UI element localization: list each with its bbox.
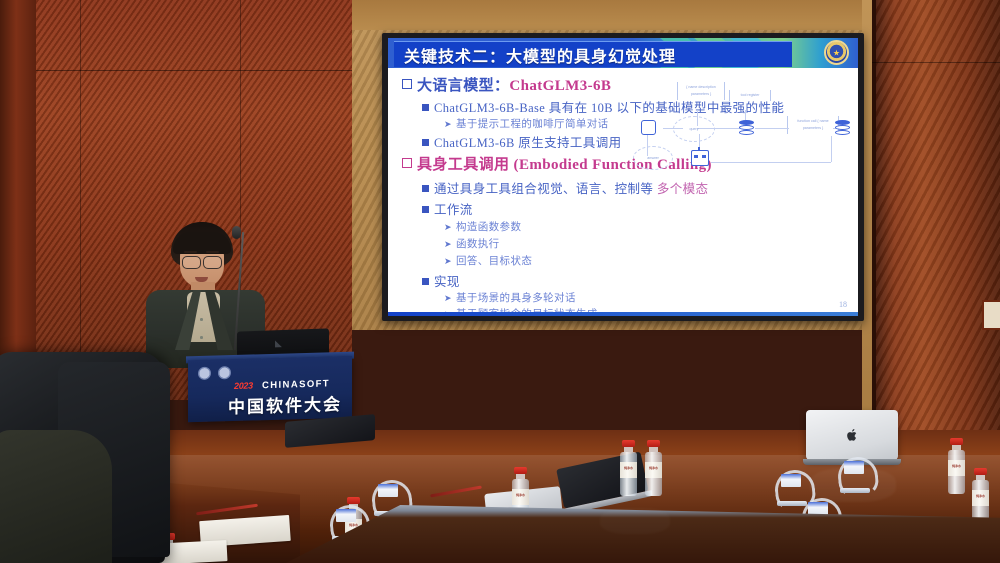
podium-sign: 2023 CHINASOFT 中国软件大会 <box>188 356 352 423</box>
conference-scene: 关键技术二：大模型的具身幻觉处理 ★ 大语言模型：ChatGLM3-6B Cha… <box>0 0 1000 563</box>
person-icon <box>641 120 656 135</box>
university-seal-icon: ★ <box>824 40 849 65</box>
coat-on-chair <box>0 430 112 563</box>
filled-square-bullet-icon <box>422 206 429 213</box>
microphone-icon <box>232 226 241 239</box>
dark-laptop <box>285 418 375 448</box>
diagram-node-query: query <box>673 116 715 142</box>
wall-plate <box>982 300 1000 330</box>
podium-brand-cn: 中国软件大会 <box>228 390 342 418</box>
function-calling-diagram: { name description parameters } tool reg… <box>637 76 852 196</box>
slide-title-bar: 关键技术二：大模型的具身幻觉处理 <box>394 41 792 67</box>
bullet-level3: ➤构造函数参数 <box>444 219 521 234</box>
left-pillar <box>0 0 36 400</box>
water-bottle: 纯净水 <box>948 438 965 494</box>
hollow-square-bullet-icon <box>402 158 412 168</box>
hollow-square-bullet-icon <box>402 79 412 89</box>
bullet-level2: ChatGLM3-6B 原生支持工具调用 <box>422 132 622 151</box>
bullet-level3: ➤函数执行 <box>444 236 500 251</box>
diagram-node-tool-register: tool register <box>729 90 771 101</box>
bullet-level2: 实现 <box>422 271 460 290</box>
diagram-node-answer: answer <box>633 146 673 170</box>
podium-emblem-icon <box>218 366 231 379</box>
arrow-bullet-icon: ➤ <box>444 222 452 233</box>
bullet-level3: ➤基于场景的具身多轮对话 <box>444 290 576 305</box>
slide-footer-line <box>388 312 858 316</box>
robot-icon <box>691 150 709 166</box>
eyeglasses-icon <box>203 256 222 269</box>
water-bottle: 纯净水 <box>645 440 662 496</box>
bullet-level3: ➤回答、目标状态 <box>444 253 532 268</box>
database-icon <box>739 120 754 136</box>
filled-square-bullet-icon <box>422 185 429 192</box>
podium-emblem-icon <box>198 367 211 380</box>
diagram-node-function-call: function call { name parameters } <box>787 116 839 134</box>
podium-brand-en: CHINASOFT <box>262 378 330 391</box>
right-pillar <box>872 0 1000 430</box>
filled-square-bullet-icon <box>422 104 429 111</box>
database-icon <box>835 120 850 136</box>
arrow-bullet-icon: ➤ <box>444 119 452 130</box>
apple-logo-icon <box>846 428 859 442</box>
arrow-bullet-icon: ➤ <box>444 293 452 304</box>
bullet-level3: ➤基于提示工程的咖啡厅简单对话 <box>444 116 609 131</box>
presentation-slide: 关键技术二：大模型的具身幻觉处理 ★ 大语言模型：ChatGLM3-6B Cha… <box>388 38 858 316</box>
diagram-node-tool-spec: { name description parameters } <box>677 82 725 100</box>
podium-year: 2023 <box>234 380 253 391</box>
bullet-level2: 工作流 <box>422 199 473 218</box>
lenovo-legion-logo-icon: ◣ <box>275 338 282 349</box>
water-bottle: 纯净水 <box>620 440 637 496</box>
arrow-bullet-icon: ➤ <box>444 239 452 250</box>
slide-content: 大语言模型：ChatGLM3-6B ChatGLM3-6B-Base 具有在 1… <box>388 68 858 316</box>
filled-square-bullet-icon <box>422 139 429 146</box>
arrow-bullet-icon: ➤ <box>444 256 452 267</box>
water-bottle: 纯净水 <box>972 468 989 524</box>
bullet-level1: 大语言模型：ChatGLM3-6B <box>402 74 611 95</box>
eyeglasses-icon <box>182 256 201 269</box>
center-wall-upper-trim <box>352 0 872 30</box>
slide-page-number: 18 <box>839 300 847 309</box>
slide-title: 关键技术二：大模型的具身幻觉处理 <box>394 43 676 67</box>
filled-square-bullet-icon <box>422 278 429 285</box>
